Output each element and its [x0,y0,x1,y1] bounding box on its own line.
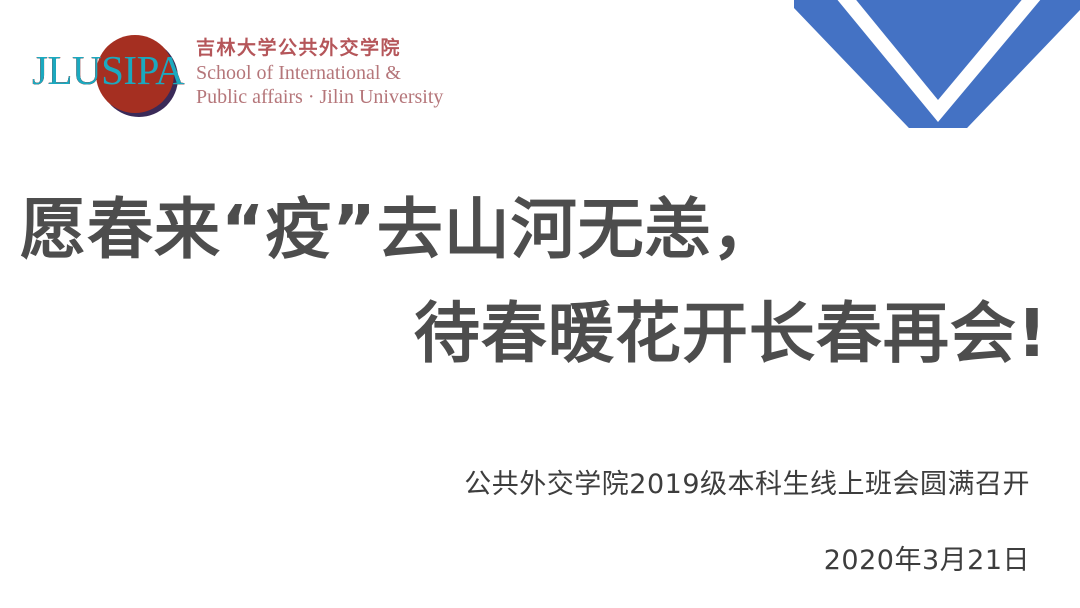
headline-line-2: 待春暖花开长春再会! [0,282,1048,386]
logo-name-chinese: 吉林大学公共外交学院 [196,36,443,61]
logo-text-group: 吉林大学公共外交学院 School of International & Pub… [196,34,443,109]
double-chevron-down-icon [790,0,1080,128]
logo-mark: JLUSIPA JLUSIPA [32,22,182,120]
headline: 愿春来“疫”去山河无恙， 待春暖花开长春再会! [0,178,1048,386]
subtitle: 公共外交学院2019级本科生线上班会圆满召开 [464,462,1030,501]
headline-line-1: 愿春来“疫”去山河无恙， [0,178,1048,282]
institution-logo: JLUSIPA JLUSIPA 吉林大学公共外交学院 School of Int… [32,22,443,120]
poster-canvas: JLUSIPA JLUSIPA 吉林大学公共外交学院 School of Int… [0,0,1080,608]
logo-wordmark: JLUSIPA [32,50,182,91]
date-stamp: 2020年3月21日 [824,538,1030,577]
logo-name-english-line1: School of International & [196,61,443,85]
logo-name-english-line2: Public affairs · Jilin University [196,85,443,109]
